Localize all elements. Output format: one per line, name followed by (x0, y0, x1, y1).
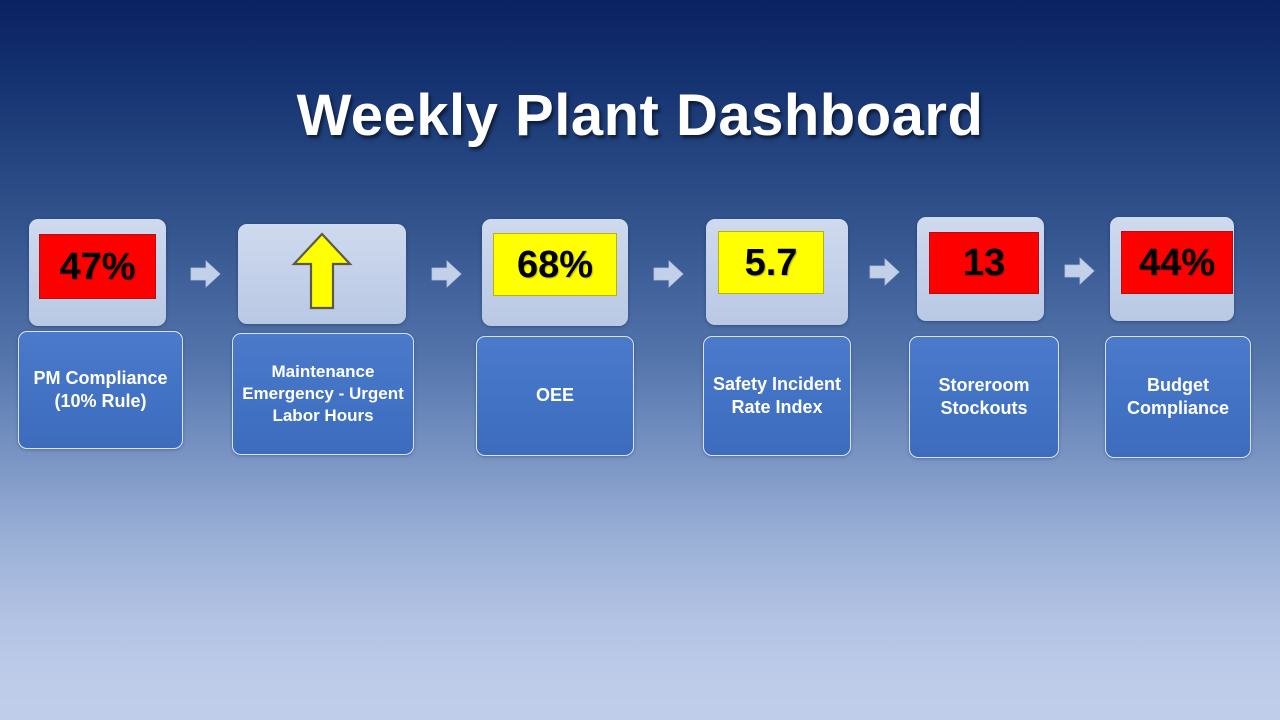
kpi-label: OEE (476, 336, 634, 456)
right-arrow-icon (652, 259, 684, 289)
kpi-status-box: 5.7 (718, 231, 824, 294)
kpi-value-card (238, 224, 406, 324)
kpi-value-card: 44% (1110, 217, 1234, 321)
kpi-label: PM Compliance (10% Rule) (18, 331, 183, 449)
connector-arrow-1 (189, 259, 221, 289)
kpi-label: Safety Incident Rate Index (703, 336, 851, 456)
kpi-label: Maintenance Emergency - Urgent Labor Hou… (232, 333, 414, 455)
kpi-status-box: 68% (493, 233, 617, 296)
kpi-value: 44% (1139, 244, 1215, 282)
dashboard-slide: Weekly Plant Dashboard 47% PM Compliance… (0, 0, 1280, 720)
kpi-tile-safety-incident-rate[interactable]: 5.7 Safety Incident Rate Index (706, 219, 848, 459)
right-arrow-icon (1063, 256, 1095, 286)
kpi-tile-maintenance-emergency[interactable]: Maintenance Emergency - Urgent Labor Hou… (238, 224, 406, 459)
kpi-tile-oee[interactable]: 68% OEE (482, 219, 628, 459)
kpi-value-card: 13 (917, 217, 1044, 321)
kpi-status-box: 13 (929, 232, 1039, 294)
kpi-value: 5.7 (745, 244, 798, 282)
kpi-value-card: 47% (29, 219, 166, 326)
kpi-tile-budget-compliance[interactable]: 44% Budget Compliance (1110, 217, 1234, 462)
kpi-tile-pm-compliance[interactable]: 47% PM Compliance (10% Rule) (29, 219, 166, 459)
right-arrow-icon (189, 259, 221, 289)
right-arrow-icon (868, 257, 900, 287)
up-arrow-icon (291, 232, 353, 312)
kpi-tile-storeroom-stockouts[interactable]: 13 Storeroom Stockouts (917, 217, 1044, 462)
kpi-value: 68% (517, 246, 593, 284)
page-title: Weekly Plant Dashboard (0, 82, 1280, 149)
connector-arrow-2 (430, 259, 462, 289)
kpi-value-card: 68% (482, 219, 628, 326)
right-arrow-icon (430, 259, 462, 289)
kpi-status-box: 47% (39, 234, 156, 299)
kpi-status-box: 44% (1121, 231, 1233, 294)
kpi-label: Budget Compliance (1105, 336, 1251, 458)
kpi-value: 47% (59, 248, 135, 286)
kpi-value: 13 (963, 244, 1005, 282)
connector-arrow-5 (1063, 256, 1095, 286)
kpi-value-card: 5.7 (706, 219, 848, 325)
connector-arrow-4 (868, 257, 900, 287)
kpi-status-box (238, 224, 406, 324)
kpi-label: Storeroom Stockouts (909, 336, 1059, 458)
connector-arrow-3 (652, 259, 684, 289)
